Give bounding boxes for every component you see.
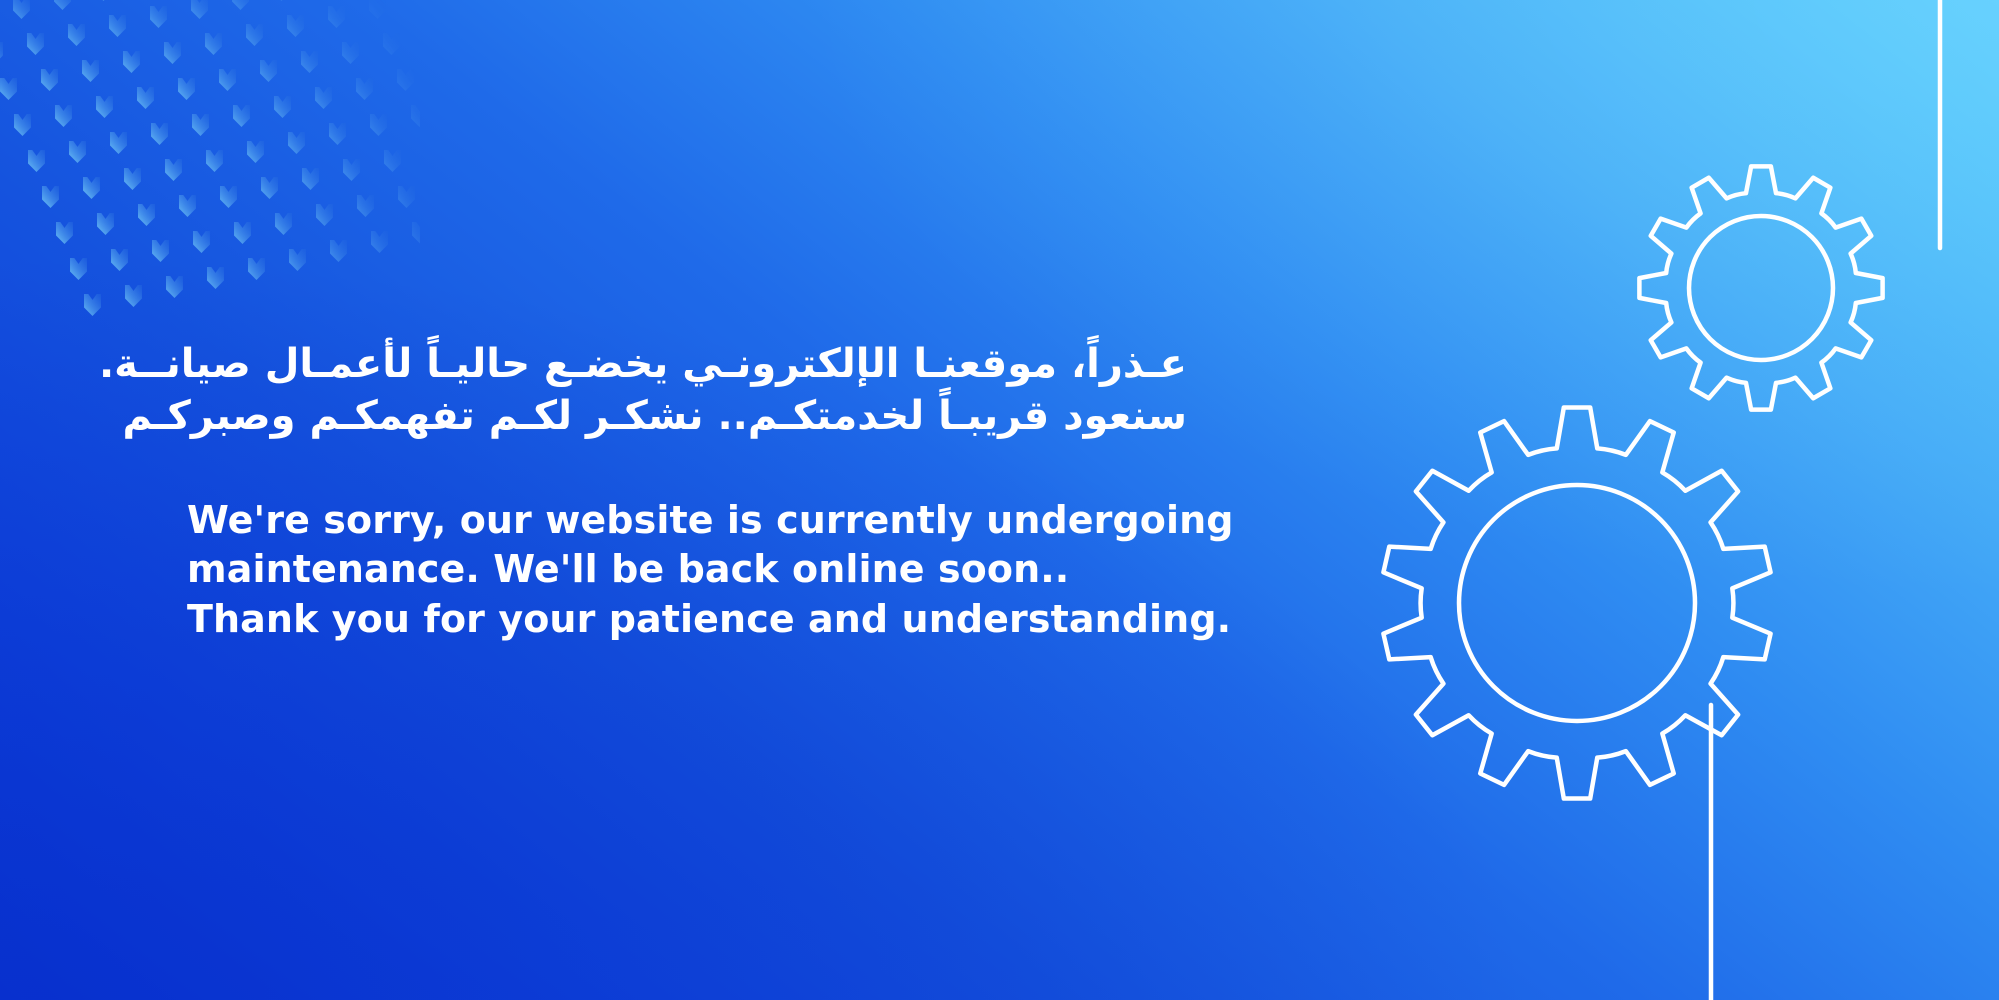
arabic-line-1: عـذراً، موقعنـا الإلكترونـي يخضـع حاليـا… — [249, 338, 1187, 390]
english-line-1: We're sorry, our website is currently un… — [187, 496, 1187, 545]
maintenance-message: عـذراً، موقعنـا الإلكترونـي يخضـع حاليـا… — [187, 338, 1187, 644]
arabic-message: عـذراً، موقعنـا الإلكترونـي يخضـع حاليـا… — [187, 338, 1187, 442]
english-line-3: Thank you for your patience and understa… — [187, 595, 1187, 644]
maintenance-page: عـذراً، موقعنـا الإلكترونـي يخضـع حاليـا… — [0, 0, 1999, 1000]
arabic-line-2: سنعود قريبـاً لخدمتكـم.. نشكـر لكـم تفهم… — [249, 390, 1187, 442]
english-line-2: maintenance. We'll be back online soon.. — [187, 545, 1187, 594]
english-message: We're sorry, our website is currently un… — [187, 496, 1187, 644]
